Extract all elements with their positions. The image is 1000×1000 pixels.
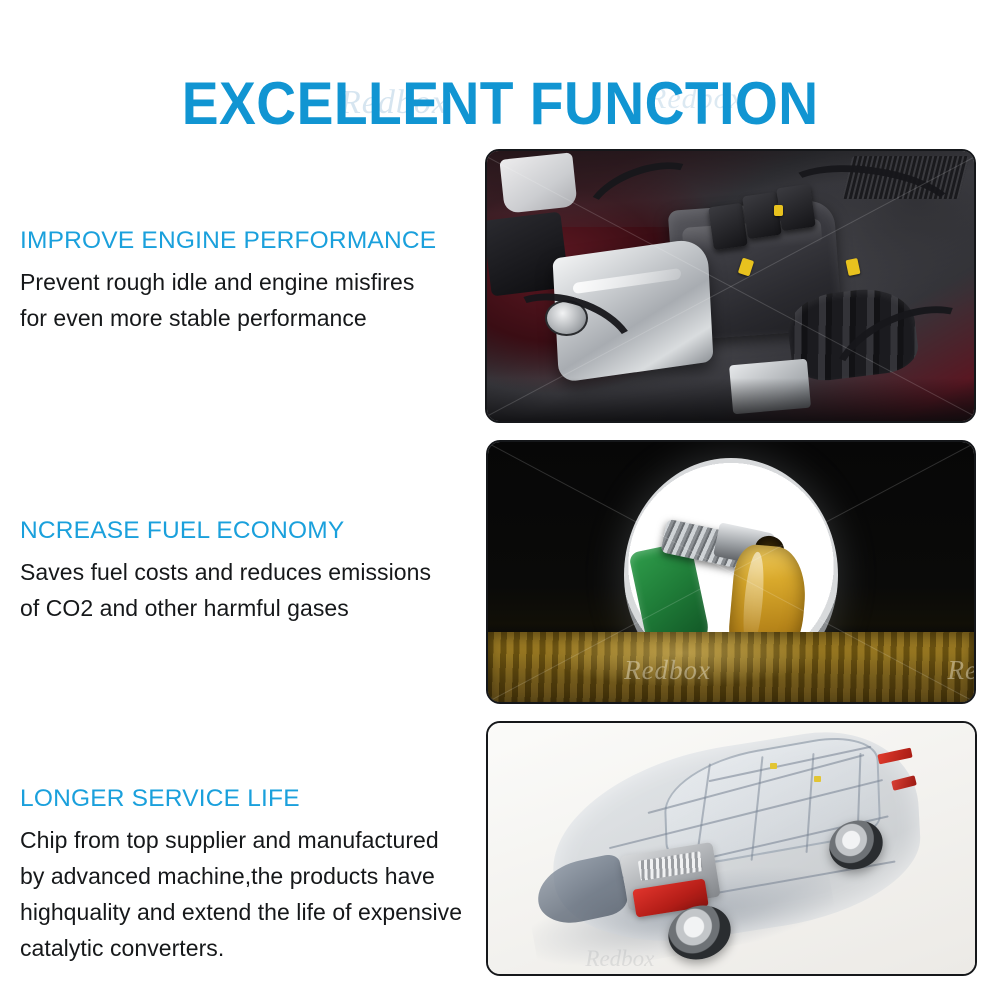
yellow-connector [774,205,783,216]
xray-car-photo-content: Redbox [488,723,975,974]
feature-text-increase-fuel-economy: NCREASE FUEL ECONOMY Saves fuel costs an… [20,516,470,626]
feature-body-3: Chip from top supplier and manufactured … [20,822,470,966]
feature-heading-2: NCREASE FUEL ECONOMY [20,516,470,546]
feature-body-1: Prevent rough idle and engine misfires f… [20,264,470,336]
yellow-component [814,776,821,782]
feature-body-line: catalytic converters. [20,930,470,966]
fluid-reservoir [499,153,577,214]
engine-bay-photo-content [487,151,974,421]
engine-bay-photo [485,149,976,423]
ignition-coil [708,203,748,251]
feature-heading-1: IMPROVE ENGINE PERFORMANCE [20,226,470,256]
xray-car-photo: Redbox [486,721,977,976]
fuel-nozzle-photo: Redbox Re [486,440,976,704]
promo-page: Redbox Redbox EXCELLENT FUNCTION IMPROVE… [0,0,1000,1000]
yellow-component [770,763,777,769]
fuel-pool [488,632,974,702]
bottom-vignette [487,378,974,421]
page-title: EXCELLENT FUNCTION [182,66,819,142]
feature-body-line: Saves fuel costs and reduces emissions [20,554,470,590]
feature-body-line: highquality and extend the life of expen… [20,894,470,930]
feature-body-line: Chip from top supplier and manufactured [20,822,470,858]
feature-body-line: Prevent rough idle and engine misfires [20,264,470,300]
feature-text-improve-engine-performance: IMPROVE ENGINE PERFORMANCE Prevent rough… [20,226,470,336]
feature-body-line: of CO2 and other harmful gases [20,590,470,626]
feature-body-line: by advanced machine,the products have [20,858,470,894]
headline-area: Redbox Redbox EXCELLENT FUNCTION [0,26,1000,106]
feature-text-longer-service-life: LONGER SERVICE LIFE Chip from top suppli… [20,784,470,966]
feature-body-line: for even more stable performance [20,300,470,336]
fuel-nozzle-photo-content: Redbox Re [488,442,974,702]
feature-body-2: Saves fuel costs and reduces emissions o… [20,554,470,626]
feature-heading-3: LONGER SERVICE LIFE [20,784,470,814]
